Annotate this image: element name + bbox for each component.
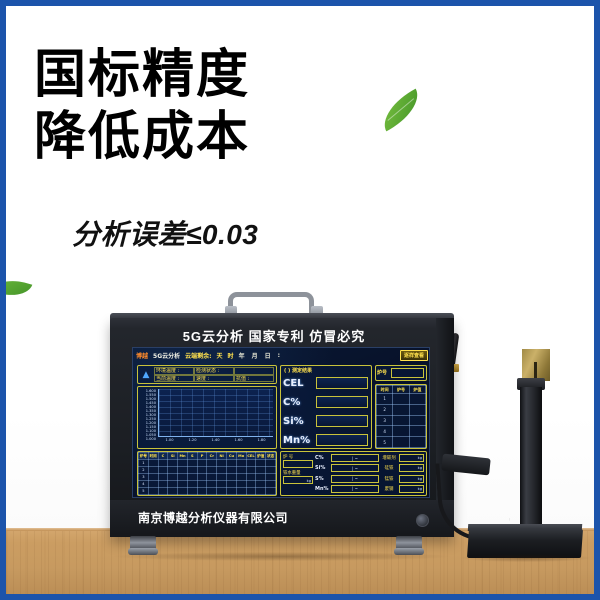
headline-line-2: 降低成本: [34, 106, 250, 168]
table-row[interactable]: 3: [377, 415, 426, 426]
chart-x-tick: 1.40: [211, 438, 219, 446]
history-table-cell: [409, 394, 425, 405]
log-table-cell: 2: [139, 467, 149, 474]
chart-x-tick: 1.00: [165, 438, 173, 446]
log-table-cell: [217, 481, 227, 488]
adjust-value-scrap-steel[interactable]: kg: [399, 485, 424, 493]
chart-y-axis: 1.6001.5501.5001.4501.4001.3501.3001.250…: [139, 389, 157, 437]
molten-weight-input[interactable]: kg: [283, 476, 313, 484]
power-button[interactable]: [416, 514, 429, 527]
history-table-cell: 4: [377, 426, 393, 437]
page-title: 国标精度 降低成本: [34, 44, 250, 168]
table-row[interactable]: 1: [377, 394, 426, 405]
measurement-rows: CEL C% Si% Mn%: [283, 377, 368, 446]
measurement-row: Mn%: [283, 434, 368, 446]
furnace-number-field[interactable]: 炉号: [375, 365, 427, 381]
table-row[interactable]: 4: [139, 481, 276, 488]
adjust-element-mn: Mn%: [315, 486, 329, 492]
log-table-cell: [148, 460, 158, 467]
log-table-cell: [197, 467, 207, 474]
log-table-cell: 5: [139, 488, 149, 495]
log-table-cell: [197, 460, 207, 467]
adjust-value-carburizer[interactable]: kg: [399, 454, 424, 462]
measurement-value-cel[interactable]: [316, 377, 368, 389]
adjust-row: C% | ~ 增碳剂 kg: [315, 454, 424, 463]
device-banner: 5G云分析 国家专利 仿冒必究: [118, 324, 430, 346]
wave-icon: ▲: [140, 369, 152, 381]
log-table-cell: [227, 481, 237, 488]
history-header-cell: 时间: [377, 386, 393, 394]
lcd-screen[interactable]: 博越 5G云分析 云端剩余: 天 时 年 月 日 : 逐样查看 ▲ 环境温度 :…: [132, 347, 430, 498]
headline-line-1: 国标精度: [34, 46, 250, 104]
log-table-cell: [266, 481, 276, 488]
chassis-shadow: [114, 552, 450, 561]
chart-x-axis: 1.001.201.401.601.80: [158, 438, 273, 446]
log-table-cell: [256, 481, 266, 488]
log-table-header-cell: Mn: [178, 453, 188, 460]
measurement-label-cel: CEL: [283, 378, 313, 389]
cloud-unit-time: 时: [228, 351, 234, 360]
log-table-cell: [256, 467, 266, 474]
log-table-cell: [148, 467, 158, 474]
measurement-label-mn: Mn%: [283, 435, 313, 446]
log-table-header-cell: Cr: [207, 453, 217, 460]
adjust-tag-ferrosilicon: 硅铁: [381, 465, 397, 471]
measurement-value-mn[interactable]: [316, 434, 368, 446]
log-table-cell: [148, 474, 158, 481]
screen-title: 5G云分析: [153, 351, 180, 360]
adjust-range-s[interactable]: | ~: [331, 475, 379, 483]
log-table-cell: [227, 474, 237, 481]
log-table-header-cell: 时间: [148, 453, 158, 460]
adjust-element-c: C%: [315, 455, 329, 461]
log-table-cell: [266, 460, 276, 467]
chart-x-tick: 1.20: [188, 438, 196, 446]
view-samples-button[interactable]: 逐样查看: [400, 350, 428, 361]
log-table-cell: [178, 467, 188, 474]
log-table-header-cell: Ni: [217, 453, 227, 460]
log-table-cell: [168, 460, 178, 467]
log-table: 炉号时间CSiMnSPCrNiCuMoCEL炉值状态 12345: [138, 452, 276, 495]
history-header-cell: 炉值: [409, 386, 425, 394]
log-table-cell: [246, 474, 256, 481]
history-table-cell: [409, 415, 425, 426]
history-table-panel[interactable]: 时间炉号炉值 12345: [375, 384, 427, 449]
table-row[interactable]: 5: [377, 437, 426, 448]
log-table-cell: [236, 460, 246, 467]
table-row[interactable]: 5: [139, 488, 276, 495]
log-table-header-cell: Si: [168, 453, 178, 460]
log-table-header-cell: 炉值: [256, 453, 266, 460]
history-table-cell: [393, 415, 409, 426]
date-day-label: 日: [265, 351, 273, 360]
log-table-header-row: 炉号时间CSiMnSPCrNiCuMoCEL炉值状态: [139, 453, 276, 460]
furnace-number-label: 炉号: [377, 369, 387, 376]
measurement-row: CEL: [283, 377, 368, 389]
log-table-cell: [158, 481, 168, 488]
log-table-cell: [207, 481, 217, 488]
measurement-label-si: Si%: [283, 416, 313, 427]
adjust-tag-scrap-steel: 废钢: [381, 486, 397, 492]
log-table-header-cell: CEL: [246, 453, 256, 460]
log-table-cell: [187, 467, 197, 474]
adjust-element-s: S%: [315, 476, 329, 482]
cloud-remaining-label: 云端剩余:: [185, 351, 211, 360]
log-table-cell: [236, 488, 246, 495]
log-table-cell: [168, 474, 178, 481]
heat-number-input[interactable]: [283, 460, 313, 468]
log-table-cell: [158, 467, 168, 474]
info-cell: 速度 :: [194, 375, 234, 383]
history-table-cell: 5: [377, 437, 393, 448]
adjust-row: Si% | ~ 硅铁 kg: [315, 464, 424, 473]
log-table-cell: [217, 474, 227, 481]
table-row[interactable]: 1: [139, 460, 276, 467]
cooling-curve-chart: 1.6001.5501.5001.4501.4001.3501.3001.250…: [137, 386, 277, 449]
log-table-cell: [187, 474, 197, 481]
log-table-cell: [227, 467, 237, 474]
history-header-cell: 炉号: [393, 386, 409, 394]
log-table-cell: [256, 474, 266, 481]
molten-weight-unit: kg: [307, 479, 311, 483]
log-table-cell: [217, 460, 227, 467]
screen-header: 博越 5G云分析 云端剩余: 天 时 年 月 日 : 逐样查看: [133, 348, 430, 363]
carry-handle: [228, 292, 314, 314]
history-table-cell: 3: [377, 415, 393, 426]
company-name: 南京博越分析仪器有限公司: [138, 509, 288, 526]
chart-x-tick: 1.80: [257, 438, 265, 446]
log-table-cell: 1: [139, 460, 149, 467]
log-table-cell: [197, 481, 207, 488]
adjust-element-si: Si%: [315, 465, 329, 471]
log-table-cell: [178, 488, 188, 495]
measurement-log-table[interactable]: 炉号时间CSiMnSPCrNiCuMoCEL炉值状态 12345: [137, 451, 277, 496]
adjust-range-c[interactable]: | ~: [331, 454, 379, 462]
log-table-cell: [256, 460, 266, 467]
log-table-header-cell: 状态: [266, 453, 276, 460]
adjust-range-si[interactable]: | ~: [331, 464, 379, 472]
adjust-left-column: 炉 号 铁水重量 kg: [283, 453, 313, 494]
log-table-cell: [246, 488, 256, 495]
log-table-cell: [236, 467, 246, 474]
chart-plot-area: [158, 389, 273, 437]
info-cell: 当前温度 :: [154, 375, 194, 383]
log-table-cell: [158, 460, 168, 467]
adjust-row: S% | ~ 锰铁 kg: [315, 474, 424, 483]
log-table-cell: [236, 481, 246, 488]
history-table-cell: [409, 426, 425, 437]
log-table-cell: 4: [139, 481, 149, 488]
history-table: 时间炉号炉值 12345: [376, 385, 426, 448]
log-table-cell: [178, 474, 188, 481]
adjust-row: Mn% | ~ 废钢 kg: [315, 484, 424, 493]
log-table-cell: [168, 488, 178, 495]
adjust-value-ferrosilicon[interactable]: kg: [399, 464, 424, 472]
table-row[interactable]: 4: [377, 426, 426, 437]
log-table-cell: [266, 488, 276, 495]
log-table-cell: [158, 488, 168, 495]
log-table-cell: [266, 474, 276, 481]
info-grid: 环境温度 : 检测状态 : 当前温度 : 速度 : 抗值 :: [154, 367, 274, 382]
promo-image: 国标精度 降低成本 分析误差≤0.03 5G云分析 国家专利 仿冒必究 博越 5…: [0, 0, 600, 600]
log-table-header-cell: Cu: [227, 453, 237, 460]
log-table-cell: [217, 467, 227, 474]
history-table-cell: [393, 426, 409, 437]
table-row[interactable]: 2: [139, 467, 276, 474]
cloud-unit-day: 天: [217, 351, 223, 360]
screen-brand: 博越: [136, 351, 148, 360]
chart-x-tick: 1.60: [234, 438, 242, 446]
log-table-cell: [246, 481, 256, 488]
info-cell: 检测状态 :: [194, 367, 234, 375]
furnace-number-input[interactable]: [391, 368, 424, 378]
history-table-cell: [409, 437, 425, 448]
measurement-value-si[interactable]: [316, 415, 368, 427]
date-year-label: 年: [239, 351, 247, 360]
log-table-cell: [207, 460, 217, 467]
measurement-result-panel: ( ) 测定结果 CEL C% Si% Mn%: [280, 365, 372, 449]
log-table-cell: [148, 481, 158, 488]
info-cell: [234, 367, 274, 375]
history-header-row: 时间炉号炉值: [377, 386, 426, 394]
measurement-result-title: ( ) 测定结果: [284, 367, 312, 374]
subtitle: 分析误差≤0.03: [72, 213, 258, 253]
log-table-header-cell: C: [158, 453, 168, 460]
log-table-cell: [256, 488, 266, 495]
log-table-header-cell: P: [197, 453, 207, 460]
log-table-cell: [187, 460, 197, 467]
chart-y-tick: 1.000: [139, 437, 156, 441]
environment-info-panel: ▲ 环境温度 : 检测状态 : 当前温度 : 速度 : 抗值 :: [137, 365, 277, 384]
history-table-cell: [393, 437, 409, 448]
log-table-header-cell: S: [187, 453, 197, 460]
history-table-body: 12345: [377, 394, 426, 448]
measurement-label-c: C%: [283, 397, 313, 408]
probe-shadow: [462, 554, 590, 562]
measurement-row: C%: [283, 396, 368, 408]
adjust-tag-ferromanganese: 锰铁: [381, 476, 397, 482]
table-row[interactable]: 3: [139, 474, 276, 481]
log-table-cell: 3: [139, 474, 149, 481]
log-table-cell: [207, 467, 217, 474]
info-cell: 抗值 :: [234, 375, 274, 383]
log-table-cell: [187, 488, 197, 495]
log-table-cell: [148, 488, 158, 495]
log-table-header-cell: Mo: [236, 453, 246, 460]
probe-column: [520, 387, 542, 532]
log-table-cell: [178, 481, 188, 488]
history-table-cell: [409, 404, 425, 415]
adjust-tag-carburizer: 增碳剂: [381, 455, 397, 461]
history-table-cell: 2: [377, 404, 393, 415]
log-table-cell: [197, 474, 207, 481]
alloy-adjustment-panel: 炉 号 铁水重量 kg C% | ~ 增碳剂 kg Si% | ~: [280, 451, 427, 496]
log-table-cell: [207, 488, 217, 495]
log-table-cell: [266, 467, 276, 474]
info-cell: 环境温度 :: [154, 367, 194, 375]
log-table-cell: [168, 481, 178, 488]
log-table-header-cell: 炉号: [139, 453, 149, 460]
log-table-cell: [207, 474, 217, 481]
time-colon: :: [278, 352, 282, 359]
log-table-cell: [246, 460, 256, 467]
measurement-value-c[interactable]: [316, 396, 368, 408]
log-table-cell: [227, 488, 237, 495]
log-table-body: 12345: [139, 460, 276, 495]
measurement-row: Si%: [283, 415, 368, 427]
adjust-value-ferromanganese[interactable]: kg: [399, 475, 424, 483]
log-table-cell: [178, 460, 188, 467]
adjust-range-mn[interactable]: | ~: [331, 485, 379, 493]
history-table-cell: [393, 404, 409, 415]
log-table-cell: [217, 488, 227, 495]
history-table-cell: 1: [377, 394, 393, 405]
date-month-label: 月: [252, 351, 260, 360]
log-table-cell: [187, 481, 197, 488]
log-table-cell: [236, 474, 246, 481]
adjust-rows: C% | ~ 增碳剂 kg Si% | ~ 硅铁 kg S% | ~ 锰铁 k: [315, 453, 424, 494]
log-table-cell: [168, 467, 178, 474]
log-table-cell: [246, 467, 256, 474]
table-row[interactable]: 2: [377, 404, 426, 415]
log-table-cell: [158, 474, 168, 481]
history-table-cell: [393, 394, 409, 405]
log-table-cell: [197, 488, 207, 495]
log-table-cell: [227, 460, 237, 467]
